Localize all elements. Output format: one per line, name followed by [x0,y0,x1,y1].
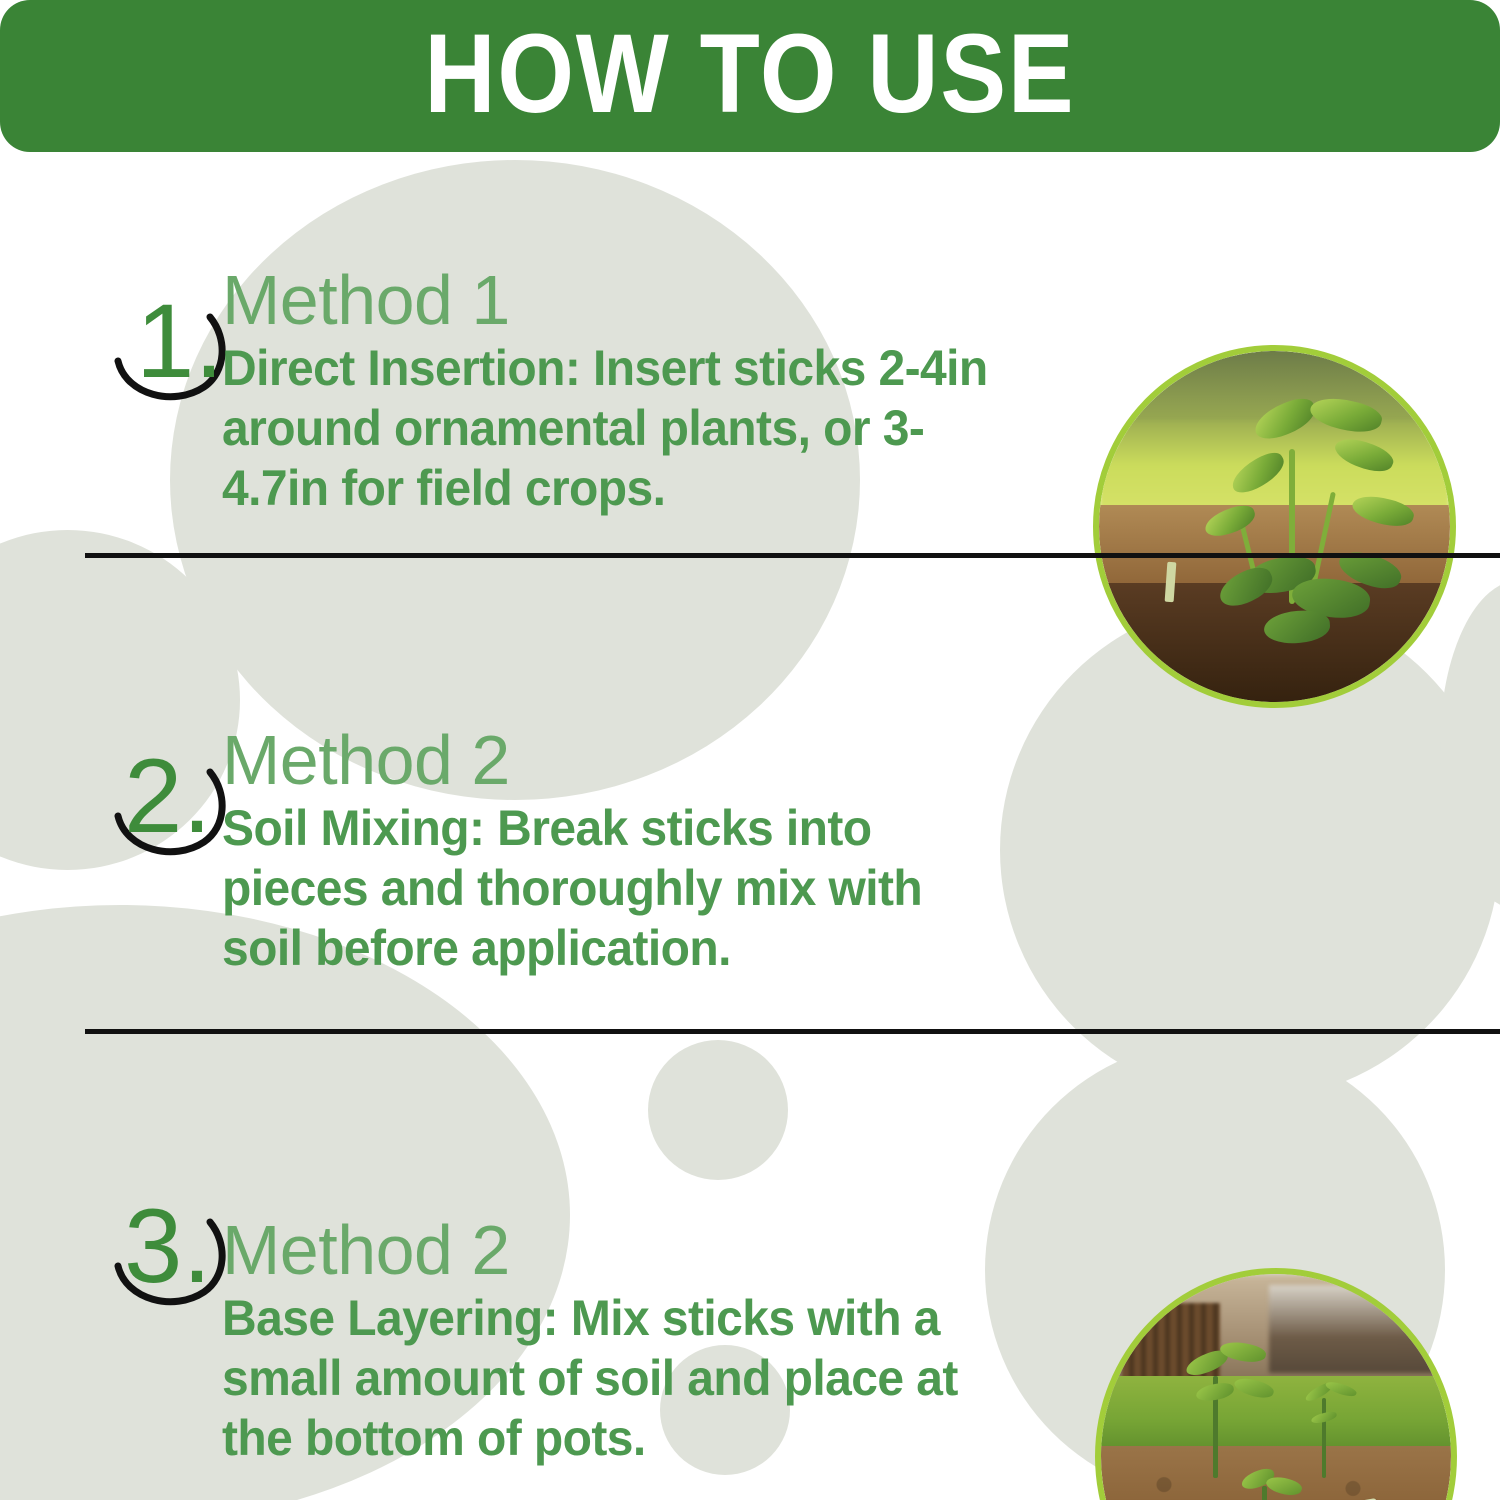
step-number-text-3: 3. [124,1188,212,1305]
step-photo-1 [1093,345,1456,708]
step-body-2: Soil Mixing: Break sticks into pieces an… [222,798,1009,978]
step-row-1: 1. Method 1 Direct Insertion: Insert sti… [0,170,1500,550]
page-title: HOW TO USE [425,18,1076,130]
section-divider-2 [85,1029,1500,1034]
section-divider-1 [85,553,1500,558]
header-banner: HOW TO USE [0,0,1500,152]
step-title-2: Method 2 [222,725,1042,796]
step-number-text-1: 1. [136,283,224,400]
step-title-3: Method 2 [222,1215,1042,1286]
steps-container: 1. Method 1 Direct Insertion: Insert sti… [0,0,1500,1500]
step-title-1: Method 1 [222,265,1042,336]
infographic-page: HOW TO USE 1. Method 1 Direct Insertion:… [0,0,1500,1500]
step-body-3: Base Layering: Mix sticks with a small a… [222,1288,1009,1468]
step-text-1: Method 1 Direct Insertion: Insert sticks… [222,265,1042,518]
step-text-2: Method 2 Soil Mixing: Break sticks into … [222,725,1042,978]
step-photo-2 [1095,1268,1457,1500]
step-body-1: Direct Insertion: Insert sticks 2-4in ar… [222,338,1009,518]
step-text-3: Method 2 Base Layering: Mix sticks with … [222,1215,1042,1468]
step-number-text-2: 2. [124,738,212,855]
